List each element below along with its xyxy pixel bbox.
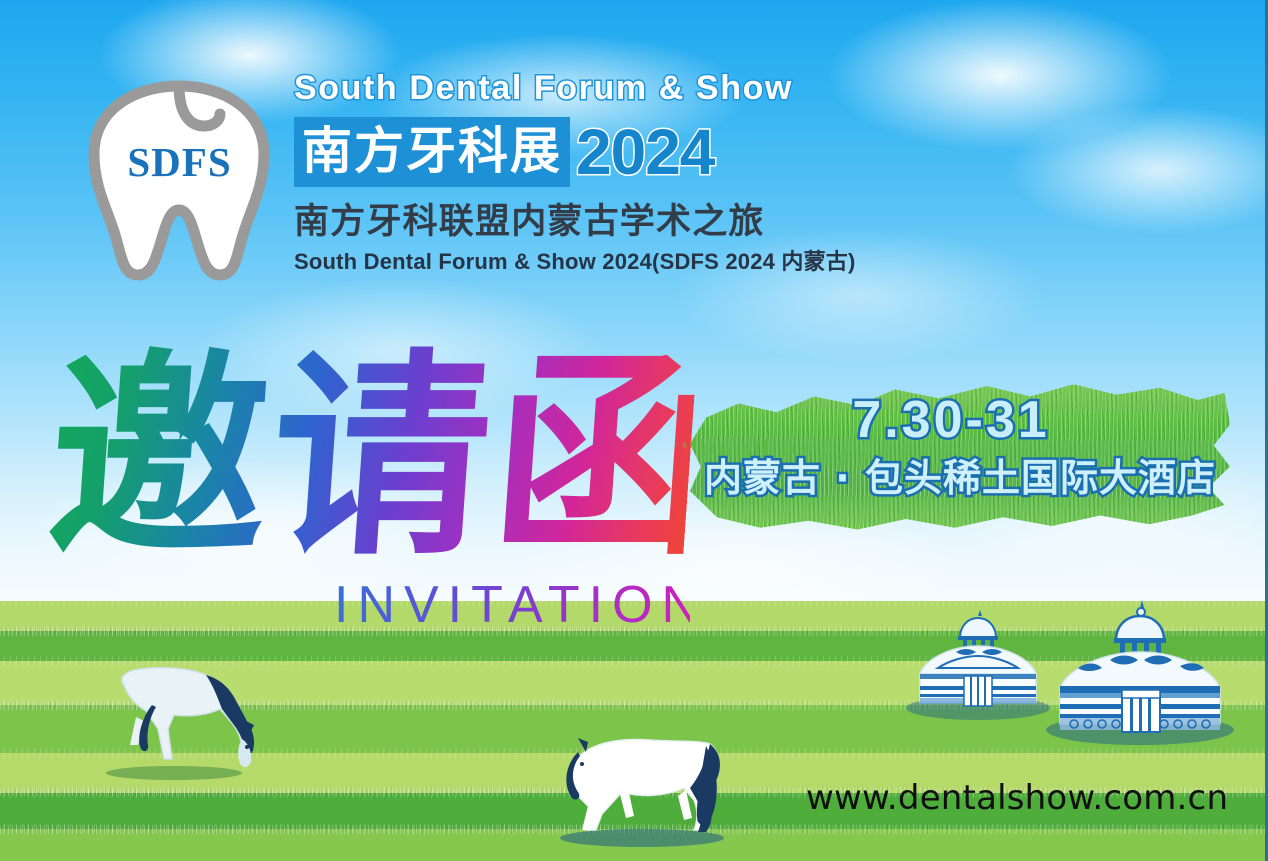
logo-monogram: SDFS (72, 138, 287, 186)
event-details-block: 7.30-31 内蒙古 · 包头稀土国际大酒店 (690, 365, 1230, 540)
horse-icon (538, 726, 738, 851)
header-title-row: 南方牙科展 2024 (294, 113, 854, 187)
yurt-icon (1040, 600, 1240, 750)
header-year: 2024 (576, 119, 714, 185)
tooth-logo: SDFS (72, 70, 287, 285)
header-english-subtitle: South Dental Forum & Show 2024(SDFS 2024… (294, 248, 854, 275)
invitation-calligraphy: 邀请函 INVITATION (50, 345, 690, 645)
invitation-chinese: 邀请函 (42, 345, 698, 573)
header-chinese-badge: 南方牙科展 (294, 117, 570, 187)
event-date: 7.30-31 (690, 391, 1212, 449)
horse-icon (96, 655, 276, 780)
yurt-icon (898, 608, 1058, 723)
yurt-small (898, 608, 1058, 728)
cloud-shape (950, 80, 1268, 260)
horse-left (96, 655, 276, 785)
invitation-poster: SDFS South Dental Forum & Show 南方牙科展 202… (0, 0, 1268, 861)
yurt-large (1040, 600, 1240, 755)
website-url[interactable]: www.dentalshow.com.cn (806, 778, 1228, 818)
header-chinese-subtitle: 南方牙科联盟内蒙古学术之旅 (294, 201, 854, 243)
horse-center (538, 726, 738, 856)
poster-header: South Dental Forum & Show 南方牙科展 2024 南方牙… (294, 66, 854, 275)
event-venue: 内蒙古 · 包头稀土国际大酒店 (690, 455, 1230, 501)
header-english-title: South Dental Forum & Show (294, 66, 854, 110)
